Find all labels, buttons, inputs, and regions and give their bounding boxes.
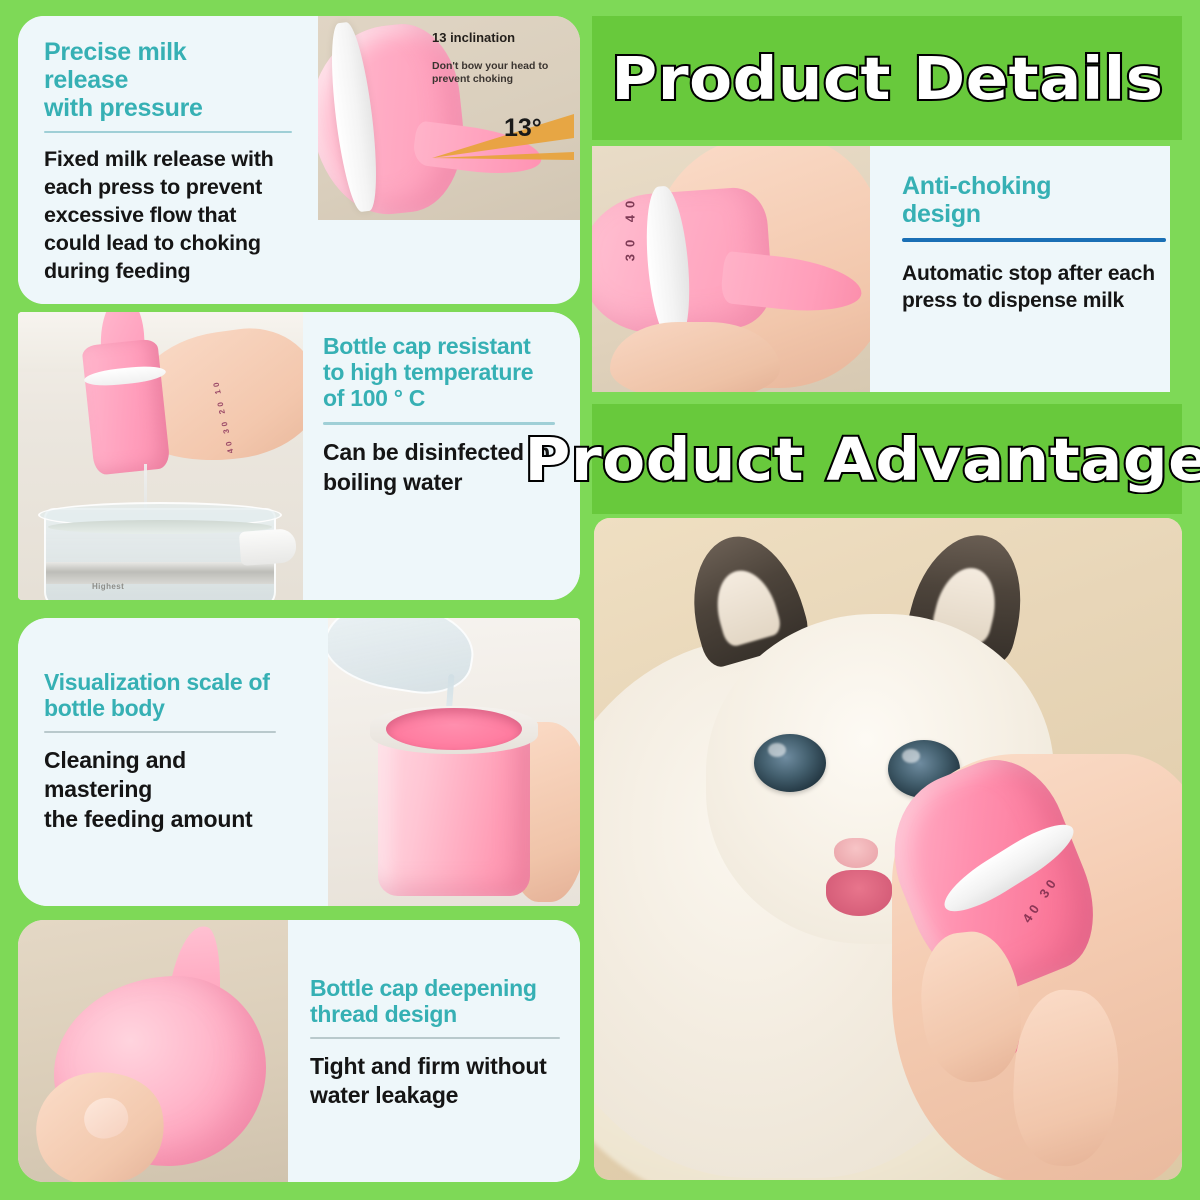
human-hand: 40 30: [892, 754, 1182, 1180]
card-scale-body: Cleaning and mastering the feeding amoun…: [44, 746, 308, 836]
heading-line-1: Visualization scale of: [44, 669, 270, 695]
card-anti-image: 30 40: [592, 146, 870, 392]
card-scale-text: Visualization scale of bottle body Clean…: [18, 618, 328, 906]
angle-value-label: 13°: [504, 114, 542, 143]
heading-divider: [44, 131, 292, 133]
card-scale-image: —40 —30 —20 —10: [328, 618, 580, 906]
heading-divider: [44, 731, 276, 733]
heading-line-3: of 100 ° C: [323, 385, 425, 411]
kettle-metal-band: [46, 562, 274, 584]
bottle-scale-marks: 30 40: [622, 194, 637, 262]
heading-divider: [310, 1037, 560, 1039]
card-boil-image: 40 30 20 10 Highest: [18, 312, 303, 600]
body-line-2: mastering: [44, 776, 152, 802]
fingers-illustration: [610, 322, 780, 392]
heading-divider: [323, 422, 555, 425]
kitten-ear-inner-left: [708, 563, 784, 648]
card-anti-heading: Anti-choking design: [902, 172, 1156, 228]
angle-wedge-icon: [430, 108, 576, 166]
card-thread-body: Tight and firm without water leakage: [310, 1052, 560, 1112]
heading-line-3: with pressure: [44, 94, 203, 122]
card-scale-heading: Visualization scale of bottle body: [44, 670, 308, 722]
heading-line-2: release: [44, 66, 128, 94]
kitten-eye-left: [754, 734, 826, 792]
card-anti-body: Automatic stop after each press to dispe…: [902, 260, 1156, 315]
card-anti-text: Anti-choking design Automatic stop after…: [870, 146, 1170, 392]
heading-line-2: thread design: [310, 1001, 457, 1027]
finger-2: [1009, 987, 1122, 1168]
infographic-page: Precise milk release with pressure Fixed…: [0, 0, 1200, 1200]
banner-details-label: Product Details: [611, 44, 1163, 113]
heading-line-1: Anti-choking: [902, 172, 1051, 200]
heading-line-1: Precise milk: [44, 38, 186, 66]
banner-product-details: Product Details: [592, 16, 1182, 140]
heading-line-1: Bottle cap resistant: [323, 333, 530, 359]
card-precise-text: Precise milk release with pressure Fixed…: [18, 16, 318, 304]
kettle-water-surface: [48, 520, 272, 534]
card-high-temperature-resistant: 40 30 20 10 Highest Bottle cap resistant…: [18, 312, 580, 600]
bottle-mouth-opening: [386, 708, 522, 750]
heading-line-1: Bottle cap deepening: [310, 975, 537, 1001]
card-anti-choking-design: 30 40 Anti-choking design Automatic stop…: [592, 146, 1170, 392]
card-precise-body: Fixed milk release with each press to pr…: [44, 146, 298, 286]
heading-line-2: bottle body: [44, 695, 165, 721]
heading-line-2: to high temperature: [323, 359, 533, 385]
banner-product-advantages: Product Advantages: [592, 404, 1182, 514]
kettle-brand-label: Highest: [92, 582, 124, 591]
card-deepening-thread-design: Bottle cap deepening thread design Tight…: [18, 920, 580, 1182]
heading-divider: [902, 238, 1166, 242]
card-visualization-scale: Visualization scale of bottle body Clean…: [18, 618, 580, 906]
photo-kitten-feeding: 40 30: [594, 518, 1182, 1180]
card-precise-heading: Precise milk release with pressure: [44, 38, 298, 122]
kitten-nose: [834, 838, 878, 868]
kettle-handle: [239, 528, 297, 566]
card-thread-text: Bottle cap deepening thread design Tight…: [288, 920, 580, 1182]
bottle-body-illustration: 40 30 20 10: [81, 338, 170, 475]
body-line-3: the feeding amount: [44, 806, 253, 832]
card-thread-heading: Bottle cap deepening thread design: [310, 976, 560, 1028]
inclination-label: 13 inclination: [432, 30, 515, 45]
body-line-1: Cleaning and: [44, 747, 186, 773]
kitten-mouth: [826, 870, 892, 916]
card-precise-image: 13 inclination Don't bow your head to pr…: [318, 16, 580, 220]
heading-line-2: design: [902, 200, 981, 228]
card-precise-milk-release: Precise milk release with pressure Fixed…: [18, 16, 580, 304]
card-boil-heading: Bottle cap resistant to high temperature…: [323, 334, 560, 411]
card-thread-image: [18, 920, 288, 1182]
choking-warning-label: Don't bow your head to prevent choking: [432, 60, 560, 87]
banner-advantages-label: Product Advantages: [525, 425, 1200, 494]
